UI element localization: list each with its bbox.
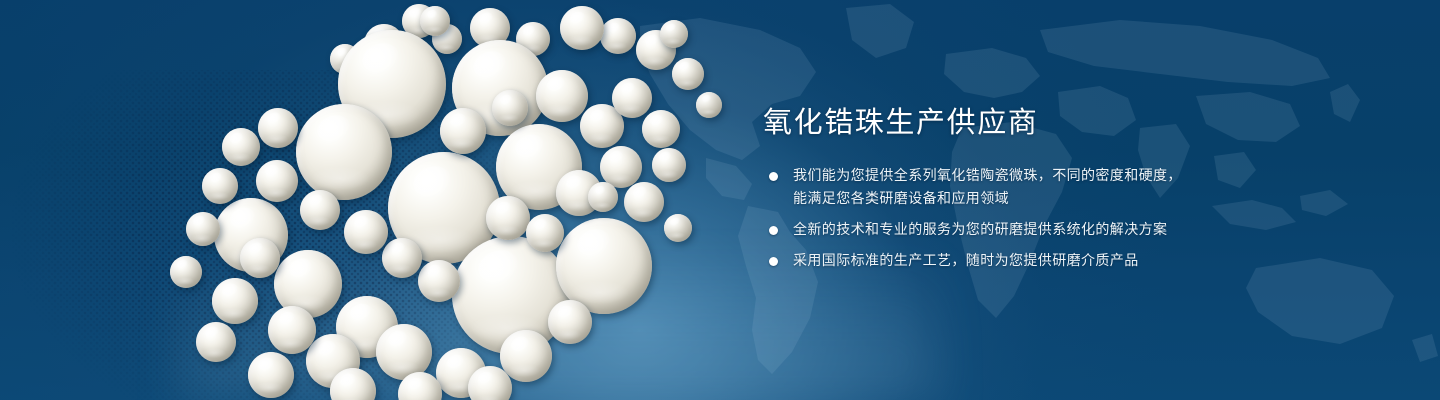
list-item-line: 采用国际标准的生产工艺，随时为您提供研磨介质产品 <box>793 249 1383 272</box>
bullet-dot-icon <box>769 257 778 266</box>
list-item-line: 我们能为您提供全系列氧化锆陶瓷微珠，不同的密度和硬度， <box>793 164 1383 187</box>
bullet-dot-icon <box>769 226 778 235</box>
banner-copy: 氧化锆珠生产供应商 我们能为您提供全系列氧化锆陶瓷微珠，不同的密度和硬度， 能满… <box>763 104 1383 272</box>
feature-list: 我们能为您提供全系列氧化锆陶瓷微珠，不同的密度和硬度， 能满足您各类研磨设备和应… <box>763 164 1383 272</box>
page-title: 氧化锆珠生产供应商 <box>763 104 1383 142</box>
bullet-dot-icon <box>769 172 778 181</box>
list-item: 全新的技术和专业的服务为您的研磨提供系统化的解决方案 <box>763 218 1383 241</box>
list-item-line: 全新的技术和专业的服务为您的研磨提供系统化的解决方案 <box>793 218 1383 241</box>
list-item-line: 能满足您各类研磨设备和应用领域 <box>793 187 1383 210</box>
list-item: 采用国际标准的生产工艺，随时为您提供研磨介质产品 <box>763 249 1383 272</box>
hero-banner: 氧化锆珠生产供应商 我们能为您提供全系列氧化锆陶瓷微珠，不同的密度和硬度， 能满… <box>0 0 1440 400</box>
halftone-dot-texture <box>0 70 540 400</box>
list-item: 我们能为您提供全系列氧化锆陶瓷微珠，不同的密度和硬度， 能满足您各类研磨设备和应… <box>763 164 1383 210</box>
